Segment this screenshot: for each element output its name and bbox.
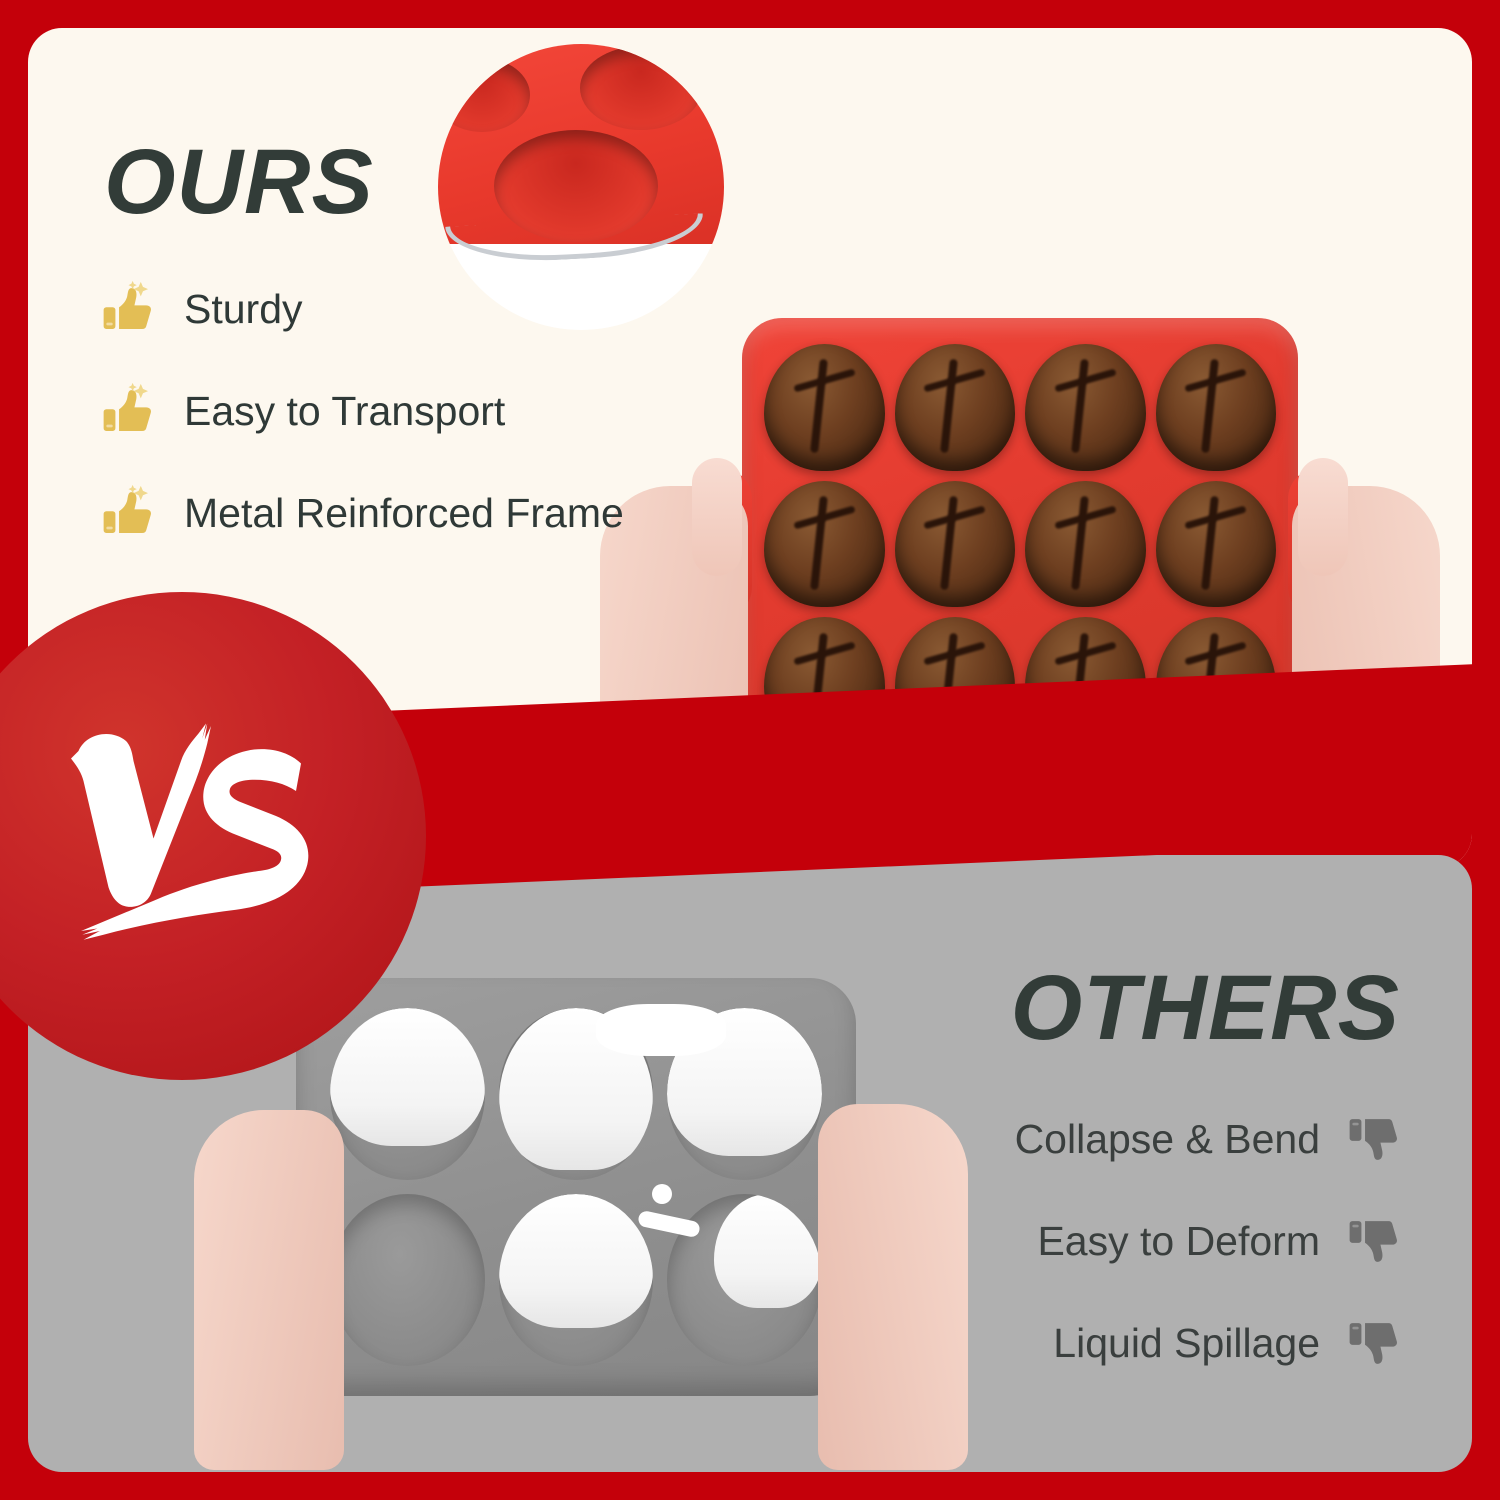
hand-right-grey [818,1104,968,1470]
feature-label: Collapse & Bend [1015,1119,1320,1160]
feature-label: Metal Reinforced Frame [184,493,624,534]
thumbs-down-icon [1346,1110,1404,1168]
comparison-infographic: OURS Sturdy [0,0,1500,1500]
muffin [1156,481,1277,608]
inset-cup [438,58,530,132]
feature-row: Liquid Spillage [1015,1314,1404,1372]
hand-left-grey [194,1110,344,1470]
others-feature-list: Collapse & Bend Easy to Deform Liqui [1015,1110,1404,1416]
batter-drip [652,1184,672,1204]
ours-heading: OURS [104,136,374,228]
feature-row: Metal Reinforced Frame [100,484,624,542]
mold-cup [499,1194,654,1366]
muffin [764,481,885,608]
spilled-batter [714,1194,822,1308]
spilled-batter [330,1008,485,1146]
mold-cup-grid [330,1008,822,1366]
vs-brush-lettering [56,686,356,986]
thumb [1298,458,1348,576]
ours-feature-list: Sturdy Easy to Transport [100,280,624,586]
muffin [895,344,1016,471]
feature-row: Sturdy [100,280,624,338]
muffin [1025,481,1146,608]
feature-label: Easy to Transport [184,391,505,432]
thumbs-up-sparkle-icon [100,484,158,542]
feature-row: Easy to Transport [100,382,624,440]
batter-spill [596,1004,726,1056]
muffin [764,344,885,471]
feature-label: Sturdy [184,289,303,330]
others-heading: OTHERS [1011,962,1400,1054]
muffin [1156,344,1277,471]
feature-label: Easy to Deform [1037,1221,1320,1262]
thumbs-down-icon [1346,1212,1404,1270]
feature-row: Collapse & Bend [1015,1110,1404,1168]
thumbs-up-sparkle-icon [100,382,158,440]
mold-cup [330,1008,485,1180]
thumb [692,458,742,576]
grey-mold-image [296,978,856,1396]
thumbs-down-icon [1346,1314,1404,1372]
feature-row: Easy to Deform [1015,1212,1404,1270]
inset-cup [580,46,702,130]
thumbs-up-sparkle-icon [100,280,158,338]
feature-label: Liquid Spillage [1053,1323,1320,1364]
muffin [895,481,1016,608]
spilled-batter [499,1194,654,1328]
muffin [1025,344,1146,471]
mold-cup [330,1194,485,1366]
